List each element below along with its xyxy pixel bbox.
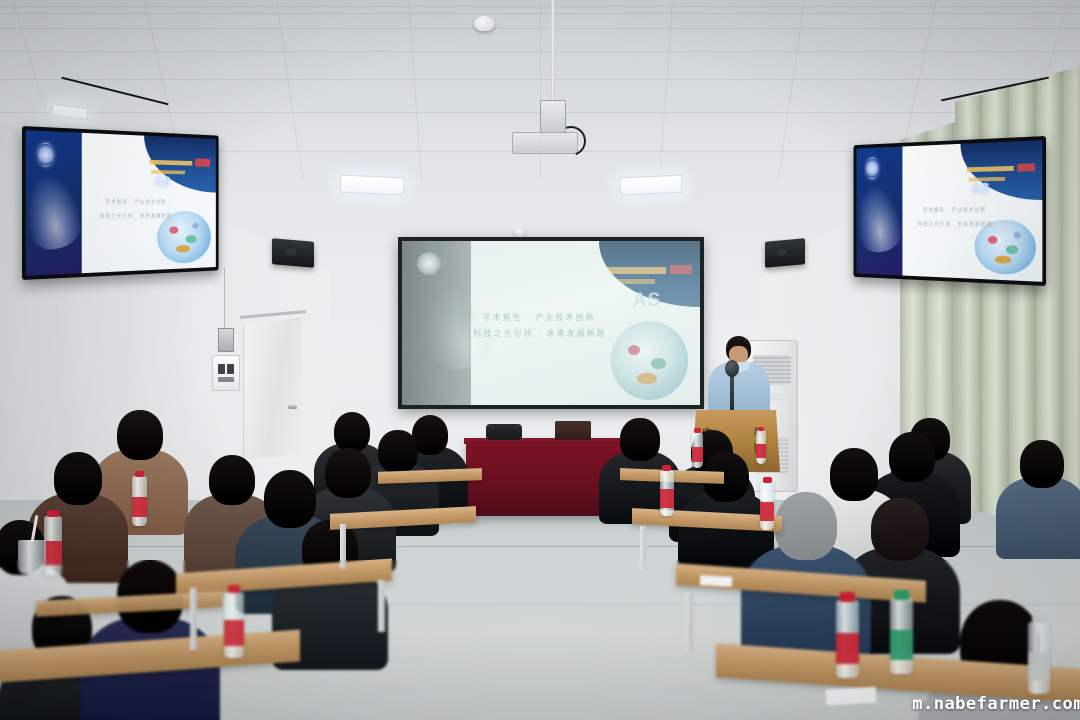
water-bottle [1028, 622, 1050, 694]
drink-cup [18, 540, 46, 574]
conference-room-photo: AS 学术报告 · 产业技术创新 科技之光引领 · 未来发展新路 [0, 0, 1080, 720]
bottle-label [44, 541, 62, 565]
tabletop-items [0, 0, 1080, 720]
bottle-cap [758, 427, 765, 431]
bottle-cap [1032, 615, 1046, 624]
water-bottle [44, 516, 62, 576]
bottle-cap [662, 465, 671, 471]
water-bottle [132, 476, 147, 526]
water-bottle [692, 432, 703, 468]
bottle-cap [694, 428, 701, 432]
bottle-cap [840, 592, 855, 601]
bottle-label [132, 497, 147, 517]
water-bottle [660, 470, 674, 516]
drink-straw [31, 514, 39, 541]
watermark: m.nabefarmer.com [912, 694, 1080, 714]
bottle-label [756, 444, 766, 458]
bottle-label [660, 489, 674, 507]
bottle-label [692, 447, 703, 461]
bottle-label [760, 502, 774, 521]
water-bottle [890, 598, 913, 674]
bottle-label [890, 630, 913, 660]
bottle-cap [763, 477, 772, 483]
bottle-label [836, 633, 859, 664]
bottle-cap [228, 585, 241, 593]
water-bottle [224, 592, 244, 658]
bottle-label [1028, 652, 1050, 681]
water-bottle [760, 482, 774, 530]
bottle-cap [894, 590, 909, 599]
water-bottle [836, 600, 859, 678]
bottle-cap [135, 471, 145, 477]
bottle-cap [47, 510, 59, 517]
water-bottle [756, 430, 766, 464]
bottle-label [224, 620, 244, 646]
